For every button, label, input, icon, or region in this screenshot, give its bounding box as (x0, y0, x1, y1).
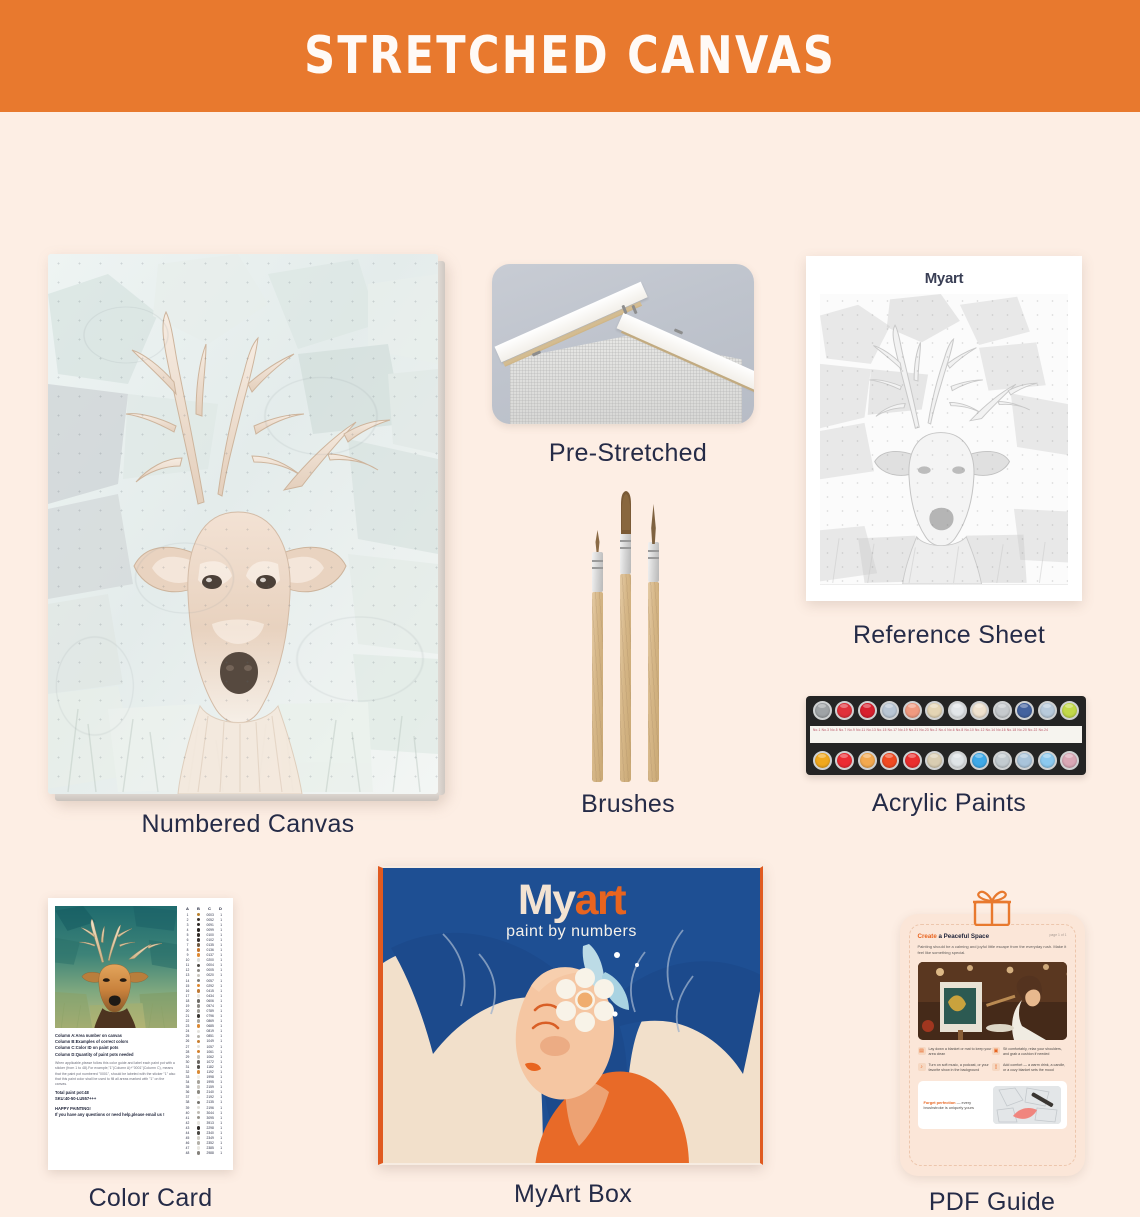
myart-logo: Myart paint by numbers (383, 878, 760, 941)
color-card-artwork (55, 906, 177, 1028)
pdf-tip-text: Turn on soft music, a podcast, or your f… (929, 1063, 993, 1073)
color-card-image: Column A:Area number on canvas Column B:… (48, 898, 233, 1170)
cell-color-swatch (193, 1065, 204, 1069)
cell-color-swatch (193, 1060, 204, 1064)
cell-area-number: 32 (182, 1070, 193, 1074)
color-card-row: 1604151 (182, 988, 226, 993)
pdf-tip: ▣Sit comfortably, relax your shoulders, … (992, 1047, 1067, 1057)
cell-quantity: 1 (216, 1121, 226, 1125)
cell-color-swatch (193, 913, 204, 917)
cell-color-id: 0136 (204, 948, 216, 952)
cell-area-number: 39 (182, 1106, 193, 1110)
cell-color-id: 0292 (204, 984, 216, 988)
cell-area-number: 48 (182, 1151, 193, 1155)
color-card-row: 2007891 (182, 1008, 226, 1013)
brush-liner (592, 532, 603, 782)
cell-color-swatch (193, 1101, 204, 1105)
paint-pot[interactable] (925, 751, 944, 770)
cell-area-number: 37 (182, 1095, 193, 1099)
cell-quantity: 1 (216, 958, 226, 962)
reference-sheet-image: Myart (806, 256, 1082, 601)
cell-quantity: 1 (216, 1151, 226, 1155)
cell-quantity: 1 (216, 1100, 226, 1104)
color-card-row: 601021 (182, 937, 226, 942)
cell-quantity: 1 (216, 1029, 226, 1033)
color-card-row: 4723851 (182, 1146, 226, 1151)
color-card-item[interactable]: Column A:Area number on canvas Column B:… (48, 898, 253, 1188)
music-icon: ♪ (918, 1063, 926, 1071)
cell-quantity: 1 (216, 1136, 226, 1140)
color-card-table-header: A B C D (182, 906, 226, 911)
cell-quantity: 1 (216, 1004, 226, 1008)
paint-pot[interactable] (835, 701, 854, 720)
paint-pot[interactable] (948, 751, 967, 770)
cell-color-id: 0796 (204, 1014, 216, 1018)
numbered-canvas-image (48, 254, 438, 794)
paint-pot[interactable] (858, 751, 877, 770)
brushes-label: Brushes (520, 790, 736, 819)
cell-color-id: 0005 (204, 968, 216, 972)
cell-area-number: 4 (182, 928, 193, 932)
color-card-row: 1905741 (182, 1003, 226, 1008)
numbered-canvas-item[interactable]: Numbered Canvas (48, 254, 448, 806)
brush-bristles-icon (648, 504, 659, 544)
brush-on-canvas-illustration (993, 1086, 1061, 1124)
cell-color-id: 0200 (204, 958, 216, 962)
cell-color-swatch (193, 1106, 204, 1110)
cell-color-id: 2298 (204, 1126, 216, 1130)
reference-sheet-item[interactable]: Myart (806, 256, 1092, 656)
col-b-header: B (193, 906, 204, 911)
cell-color-swatch (193, 1090, 204, 1094)
color-card-contact: If you have any questions or need help,p… (55, 1112, 177, 1118)
cell-color-swatch (193, 999, 204, 1003)
cell-color-id: 0851 (204, 1034, 216, 1038)
cell-color-id: 1182 (204, 1065, 216, 1069)
paint-pot[interactable] (1015, 751, 1034, 770)
color-card-row: 2208691 (182, 1019, 226, 1024)
cell-color-id: 1998 (204, 1075, 216, 1079)
pre-stretched-item[interactable]: Pre-Stretched (492, 264, 764, 479)
cell-quantity: 1 (216, 1065, 226, 1069)
brush-bristles-icon (592, 530, 603, 552)
cell-color-swatch (193, 984, 204, 988)
cell-area-number: 2 (182, 918, 193, 922)
legend-line: Column D:Quantity of paint pots needed (55, 1052, 177, 1058)
color-card-row: 1300201 (182, 973, 226, 978)
paint-pot[interactable] (925, 701, 944, 720)
cell-color-swatch (193, 1146, 204, 1150)
pdf-tip: ♪Turn on soft music, a podcast, or your … (918, 1063, 993, 1073)
cell-color-id: 1192 (204, 1070, 216, 1074)
cell-quantity: 1 (216, 989, 226, 993)
cell-quantity: 1 (216, 1039, 226, 1043)
cell-quantity: 1 (216, 1014, 226, 1018)
cell-color-swatch (193, 1050, 204, 1054)
cell-area-number: 40 (182, 1111, 193, 1115)
paint-pot-row-bottom (810, 751, 1082, 770)
color-card-legend: Column A:Area number on canvas Column B:… (55, 1033, 177, 1058)
color-card-row: 100031 (182, 912, 226, 917)
cell-area-number: 47 (182, 1146, 193, 1150)
cell-quantity: 1 (216, 1146, 226, 1150)
color-card-row: 1200051 (182, 968, 226, 973)
cell-color-swatch (193, 1004, 204, 1008)
cell-color-swatch (193, 958, 204, 962)
cell-quantity: 1 (216, 918, 226, 922)
cell-quantity: 1 (216, 1131, 226, 1135)
paint-pot[interactable] (1038, 751, 1057, 770)
color-card-row: 400991 (182, 927, 226, 932)
cell-area-number: 17 (182, 994, 193, 998)
cell-quantity: 1 (216, 1075, 226, 1079)
paint-pot[interactable] (858, 701, 877, 720)
paint-pot[interactable] (813, 751, 832, 770)
color-card-row: 4030441 (182, 1110, 226, 1115)
cell-color-id: 0004 (204, 963, 216, 967)
cell-quantity: 1 (216, 1080, 226, 1084)
cell-area-number: 31 (182, 1065, 193, 1069)
cell-color-id: 0415 (204, 989, 216, 993)
cell-quantity: 1 (216, 1034, 226, 1038)
paint-pot[interactable] (880, 751, 899, 770)
cell-quantity: 1 (216, 1070, 226, 1074)
cell-color-id: 2385 (204, 1146, 216, 1150)
cell-area-number: 6 (182, 938, 193, 942)
cell-color-swatch (193, 1014, 204, 1018)
cell-quantity: 1 (216, 1060, 226, 1064)
cell-area-number: 30 (182, 1060, 193, 1064)
logo-wordmark: Myart (383, 878, 760, 922)
cell-quantity: 1 (216, 979, 226, 983)
cell-area-number: 21 (182, 1014, 193, 1018)
cell-area-number: 18 (182, 999, 193, 1003)
cell-color-swatch (193, 1151, 204, 1155)
pdf-tip-text: Add comfort — a warm drink, a candle, or… (1003, 1063, 1067, 1073)
cell-quantity: 1 (216, 1085, 226, 1089)
col-c-header: C (204, 906, 215, 911)
pdf-tip: ▯Add comfort — a warm drink, a candle, o… (992, 1063, 1067, 1073)
pbn-number-markers (48, 254, 438, 794)
paint-pot[interactable] (1060, 701, 1079, 720)
paint-pot[interactable] (1015, 701, 1034, 720)
myart-box-label: MyArt Box (378, 1180, 768, 1209)
cell-color-id: 0869 (204, 1019, 216, 1023)
cell-quantity: 1 (216, 999, 226, 1003)
cell-area-number: 9 (182, 953, 193, 957)
pdf-hero-photo (918, 962, 1067, 1040)
numbered-canvas-label: Numbered Canvas (48, 810, 448, 839)
cell-quantity: 1 (216, 1090, 226, 1094)
phone-icon: ▤ (918, 1047, 926, 1055)
cell-quantity: 1 (216, 963, 226, 967)
color-card-row: 2610491 (182, 1039, 226, 1044)
cell-color-id: 1057 (204, 1045, 216, 1049)
color-card-row: 3621401 (182, 1090, 226, 1095)
cell-color-id: 0574 (204, 1004, 216, 1008)
color-card-row: 2810611 (182, 1049, 226, 1054)
cell-quantity: 1 (216, 1111, 226, 1115)
reference-number-markers (820, 294, 1068, 585)
logo-tagline: paint by numbers (383, 923, 760, 941)
cell-color-id: 0102 (204, 938, 216, 942)
cell-area-number: 27 (182, 1045, 193, 1049)
pdf-footer-text: Forget perfection — every brushstroke is… (924, 1100, 988, 1111)
cell-quantity: 1 (216, 968, 226, 972)
cell-color-id: 0606 (204, 999, 216, 1003)
pdf-tip-text: Sit comfortably, relax your shoulders, a… (1003, 1047, 1067, 1057)
cell-color-id: 0099 (204, 928, 216, 932)
cell-area-number: 12 (182, 968, 193, 972)
cell-color-swatch (193, 1136, 204, 1140)
color-card-row: 1100041 (182, 963, 226, 968)
cell-area-number: 1 (182, 913, 193, 917)
cell-color-swatch (193, 1096, 204, 1100)
color-card-row: 4623521 (182, 1141, 226, 1146)
staple-icon (674, 328, 683, 334)
cell-color-swatch (193, 964, 204, 968)
paint-pot[interactable] (993, 751, 1012, 770)
color-card-row: 3319981 (182, 1075, 226, 1080)
cell-area-number: 10 (182, 958, 193, 962)
cell-color-id: 3095 (204, 1116, 216, 1120)
paint-pot[interactable] (1038, 701, 1057, 720)
paint-tray-image: No.1 No.3 No.5 No.7 No.9 No.11 No.13 No.… (806, 696, 1086, 775)
cell-color-swatch (193, 974, 204, 978)
cell-quantity: 1 (216, 948, 226, 952)
cell-color-id: 1061 (204, 1050, 216, 1054)
paint-pot[interactable] (903, 701, 922, 720)
cell-quantity: 1 (216, 1095, 226, 1099)
color-card-row: 3010721 (182, 1059, 226, 1064)
product-contents-board: Numbered Canvas Pre-Stretched Myart (0, 112, 1140, 1140)
paint-pot[interactable] (813, 701, 832, 720)
cell-color-id: 2159 (204, 1085, 216, 1089)
cell-color-id: 0003 (204, 913, 216, 917)
cell-color-swatch (193, 1070, 204, 1074)
cell-color-id: 1072 (204, 1060, 216, 1064)
painter-scene-illustration (918, 962, 1067, 1040)
pdf-footer-note: Forget perfection — every brushstroke is… (918, 1081, 1067, 1129)
color-card-row: 3211921 (182, 1069, 226, 1074)
cell-area-number: 19 (182, 1004, 193, 1008)
cell-quantity: 1 (216, 994, 226, 998)
color-card-sku: SKU:40-50-LU557+++ (55, 1096, 177, 1102)
cell-area-number: 5 (182, 933, 193, 937)
brushes-image (568, 492, 688, 782)
paint-pot[interactable] (835, 751, 854, 770)
cell-area-number: 22 (182, 1019, 193, 1023)
canvas-face (48, 254, 438, 794)
color-card-row: 1806061 (182, 998, 226, 1003)
paint-pot[interactable] (948, 701, 967, 720)
pdf-footer-photo (993, 1086, 1061, 1124)
pdf-guide-item[interactable]: page 1 of 1 Create a Peaceful Space Pain… (892, 892, 1092, 1188)
color-card-row: 3721921 (182, 1095, 226, 1100)
cell-color-id: 0685 (204, 1024, 216, 1028)
cell-area-number: 15 (182, 984, 193, 988)
color-card-row: 2306851 (182, 1024, 226, 1029)
cell-area-number: 41 (182, 1116, 193, 1120)
cell-color-id: 2196 (204, 1106, 216, 1110)
cell-color-swatch (193, 948, 204, 952)
cell-color-swatch (193, 953, 204, 957)
cell-quantity: 1 (216, 1141, 226, 1145)
cell-area-number: 16 (182, 989, 193, 993)
cell-color-swatch (193, 1035, 204, 1039)
cell-quantity: 1 (216, 1045, 226, 1049)
deer-color-artwork (55, 906, 177, 1028)
color-card-row: 4239131 (182, 1120, 226, 1125)
color-card-row: 801361 (182, 948, 226, 953)
pdf-page-number: page 1 of 1 (1050, 933, 1067, 937)
paint-pot[interactable] (970, 701, 989, 720)
candle-icon: ▯ (992, 1063, 1000, 1071)
cell-color-id: 0137 (204, 953, 216, 957)
cell-quantity: 1 (216, 1050, 226, 1054)
cell-quantity: 1 (216, 938, 226, 942)
cell-area-number: 11 (182, 963, 193, 967)
pdf-title: Create a Peaceful Space (918, 933, 1067, 940)
color-card-row: 2910621 (182, 1054, 226, 1059)
col-a-header: A (182, 906, 193, 911)
cell-area-number: 23 (182, 1024, 193, 1028)
brushes-item[interactable]: Brushes (520, 492, 736, 806)
color-card-row: 3921961 (182, 1105, 226, 1110)
cell-color-id: 0434 (204, 994, 216, 998)
color-card-row: 2408191 (182, 1029, 226, 1034)
color-card-row: 300911 (182, 922, 226, 927)
canvas-side-edge (437, 261, 445, 795)
cell-quantity: 1 (216, 1106, 226, 1110)
cell-area-number: 45 (182, 1136, 193, 1140)
cell-color-id: 0100 (204, 933, 216, 937)
paint-pot[interactable] (903, 751, 922, 770)
color-card-row: 4130951 (182, 1115, 226, 1120)
color-card-row: 3521591 (182, 1085, 226, 1090)
cell-area-number: 8 (182, 948, 193, 952)
cell-color-id: 0819 (204, 1029, 216, 1033)
cell-area-number: 20 (182, 1009, 193, 1013)
cell-area-number: 46 (182, 1141, 193, 1145)
cell-quantity: 1 (216, 1024, 226, 1028)
cell-color-swatch (193, 1030, 204, 1034)
cell-color-id: 3913 (204, 1121, 216, 1125)
pdf-title-accent: Create (918, 933, 937, 940)
cell-quantity: 1 (216, 928, 226, 932)
cell-color-swatch (193, 1040, 204, 1044)
cell-area-number: 7 (182, 943, 193, 947)
paint-pot[interactable] (970, 751, 989, 770)
color-card-row: 901371 (182, 953, 226, 958)
cell-color-swatch (193, 1121, 204, 1125)
cell-quantity: 1 (216, 943, 226, 947)
cell-area-number: 42 (182, 1121, 193, 1125)
cell-area-number: 29 (182, 1055, 193, 1059)
cell-color-id: 2135 (204, 1100, 216, 1104)
paint-pot[interactable] (880, 701, 899, 720)
color-card-row: 2710571 (182, 1044, 226, 1049)
cell-color-swatch (193, 928, 204, 932)
color-card-row: 1502921 (182, 983, 226, 988)
reference-sheet-label: Reference Sheet (806, 621, 1092, 650)
cell-color-swatch (193, 1131, 204, 1135)
chair-icon: ▣ (992, 1047, 1000, 1055)
color-card-row: 2107961 (182, 1014, 226, 1019)
cell-color-swatch (193, 933, 204, 937)
cell-color-swatch (193, 1141, 204, 1145)
cell-area-number: 44 (182, 1131, 193, 1135)
cell-area-number: 3 (182, 923, 193, 927)
cell-quantity: 1 (216, 1019, 226, 1023)
cell-area-number: 43 (182, 1126, 193, 1130)
cell-color-swatch (193, 938, 204, 942)
brush-flat (620, 490, 631, 782)
cell-area-number: 35 (182, 1085, 193, 1089)
color-card-row: 1704341 (182, 993, 226, 998)
cell-quantity: 1 (216, 1055, 226, 1059)
paint-pot-row-top (810, 701, 1082, 720)
pdf-title-rest: a Peaceful Space (937, 933, 989, 940)
cell-area-number: 25 (182, 1034, 193, 1038)
reference-sheet-logo: Myart (925, 270, 964, 287)
cell-color-id: 2340 (204, 1131, 216, 1135)
color-card-row: 200521 (182, 917, 226, 922)
cell-color-id: 1049 (204, 1039, 216, 1043)
color-card-row: 2508511 (182, 1034, 226, 1039)
cell-area-number: 33 (182, 1075, 193, 1079)
cell-area-number: 24 (182, 1029, 193, 1033)
color-card-row: 701351 (182, 942, 226, 947)
cell-quantity: 1 (216, 1009, 226, 1013)
cell-color-id: 0091 (204, 923, 216, 927)
cell-color-swatch (193, 979, 204, 983)
cell-quantity: 1 (216, 973, 226, 977)
paint-pot[interactable] (993, 701, 1012, 720)
acrylic-paints-item[interactable]: No.1 No.3 No.5 No.7 No.9 No.11 No.13 No.… (806, 696, 1092, 806)
cell-color-id: 2352 (204, 1141, 216, 1145)
color-card-row: 3821351 (182, 1100, 226, 1105)
cell-color-swatch (193, 918, 204, 922)
page-header: STRETCHED CANVAS (0, 0, 1140, 112)
cell-color-id: 1995 (204, 1080, 216, 1084)
cell-area-number: 14 (182, 979, 193, 983)
cell-color-id: 0020 (204, 973, 216, 977)
cell-color-swatch (193, 1075, 204, 1079)
pdf-guide-image: page 1 of 1 Create a Peaceful Space Pain… (900, 914, 1085, 1176)
color-card-table: A B C D 10003120052130091140099150100160… (182, 906, 226, 1162)
cell-color-id: 0057 (204, 979, 216, 983)
pdf-tip-text: Lay down a blanket or mat to keep your a… (929, 1047, 993, 1057)
color-card-row: 4829881 (182, 1151, 226, 1156)
cell-color-swatch (193, 1126, 204, 1130)
pdf-footer-accent: Forget perfection (924, 1100, 956, 1105)
cell-area-number: 38 (182, 1100, 193, 1104)
brush-round (648, 504, 659, 782)
cell-color-id: 3044 (204, 1111, 216, 1115)
cell-color-id: 2140 (204, 1090, 216, 1094)
cell-quantity: 1 (216, 913, 226, 917)
cell-quantity: 1 (216, 1116, 226, 1120)
cell-quantity: 1 (216, 923, 226, 927)
color-card-row: 3111821 (182, 1064, 226, 1069)
cell-color-swatch (193, 923, 204, 927)
color-card-left-column: Column A:Area number on canvas Column B:… (55, 906, 177, 1162)
cell-color-swatch (193, 989, 204, 993)
paint-pot[interactable] (1060, 751, 1079, 770)
cell-color-swatch (193, 1085, 204, 1089)
cell-color-swatch (193, 994, 204, 998)
